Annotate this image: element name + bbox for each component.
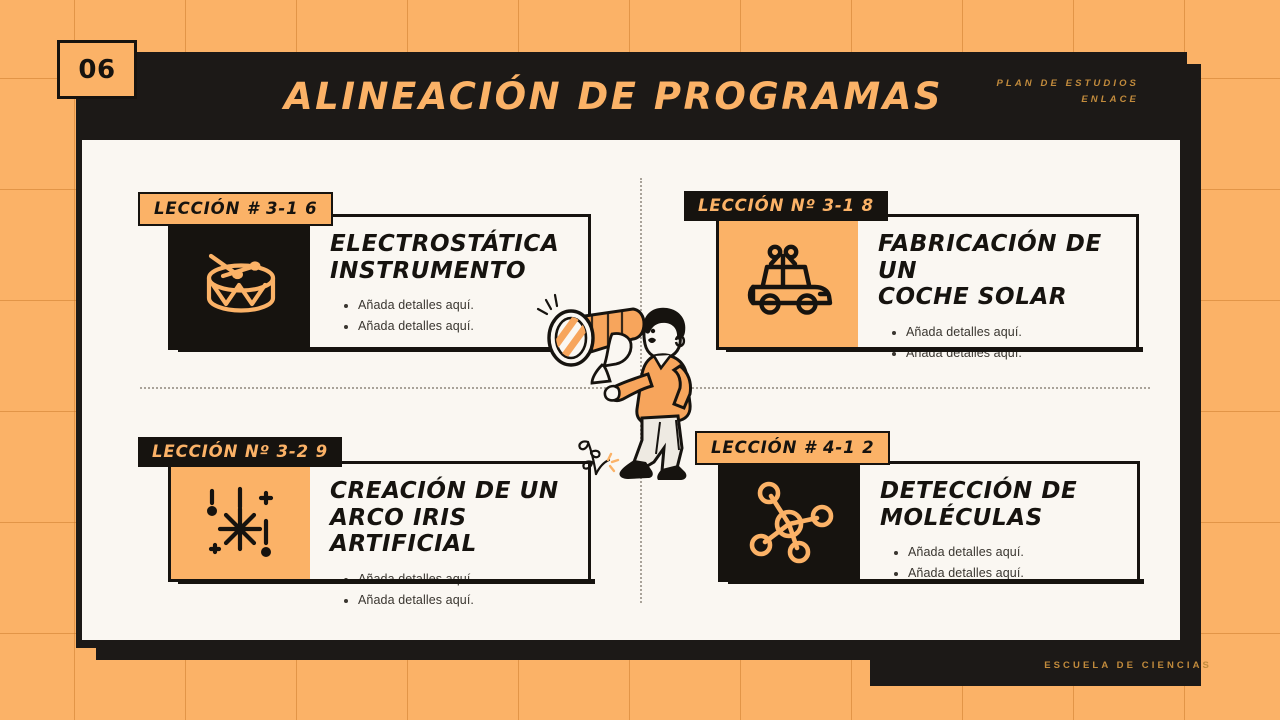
list-item: Añada detalles aquí. [906,343,1120,364]
slide-header: ALINEACIÓN DE PROGRAMAS PLAN DE ESTUDIOS… [76,52,1187,140]
list-item: Añada detalles aquí. [358,569,572,590]
lesson-title: ELECTROSTÁTICA INSTRUMENTO [330,231,572,284]
person-with-megaphone-illustration [530,282,730,482]
lesson-tag[interactable]: LECCIÓN # 3-1 6 [138,192,333,226]
sparkle-icon [196,479,286,565]
lesson-title: FABRICACIÓN DE UN COCHE SOLAR [878,231,1120,311]
lesson-icon-box [719,217,858,347]
lesson-card-text: FABRICACIÓN DE UN COCHE SOLAR Añada deta… [858,217,1136,347]
lesson-card-body: DETECCIÓN DE MOLÉCULAS Añada detalles aq… [718,461,1140,582]
header-kicker: PLAN DE ESTUDIOS ENLACE [997,76,1140,107]
header-kicker-line-2: ENLACE [997,92,1140,108]
list-item: Añada detalles aquí. [358,590,572,611]
lesson-icon-box [171,464,310,579]
lesson-title: CREACIÓN DE UN ARCO IRIS ARTIFICIAL [330,478,572,558]
header-kicker-line-1: PLAN DE ESTUDIOS [997,76,1140,92]
lesson-bullet-list: Añada detalles aquí. Añada detalles aquí… [878,322,1120,364]
lesson-tag[interactable]: LECCIÓN Nº 3-2 9 [138,437,342,467]
lesson-card-body: ELECTROSTÁTICA INSTRUMENTO Añada detalle… [168,214,591,350]
list-item: Añada detalles aquí. [908,542,1121,563]
list-item: Añada detalles aquí. [906,322,1120,343]
lesson-card-body: FABRICACIÓN DE UN COCHE SOLAR Añada deta… [716,214,1139,350]
lesson-tag[interactable]: LECCIÓN Nº 3-1 8 [684,191,888,221]
footer-label: ESCUELA DE CIENCIAS [1044,660,1212,671]
molecule-icon [745,480,837,564]
solar-car-icon [741,243,837,321]
list-item: Añada detalles aquí. [908,563,1121,584]
lesson-icon-box [171,217,310,347]
drum-icon [195,240,287,324]
lesson-card-text: DETECCIÓN DE MOLÉCULAS Añada detalles aq… [860,464,1137,579]
lesson-bullet-list: Añada detalles aquí. Añada detalles aquí… [880,542,1121,584]
lesson-bullet-list: Añada detalles aquí. Añada detalles aquí… [330,569,572,611]
lesson-title: DETECCIÓN DE MOLÉCULAS [880,478,1121,531]
slide-number-badge: 06 [57,40,137,99]
lesson-card-body: CREACIÓN DE UN ARCO IRIS ARTIFICIAL Añad… [168,461,591,582]
lesson-icon-box [721,464,860,579]
